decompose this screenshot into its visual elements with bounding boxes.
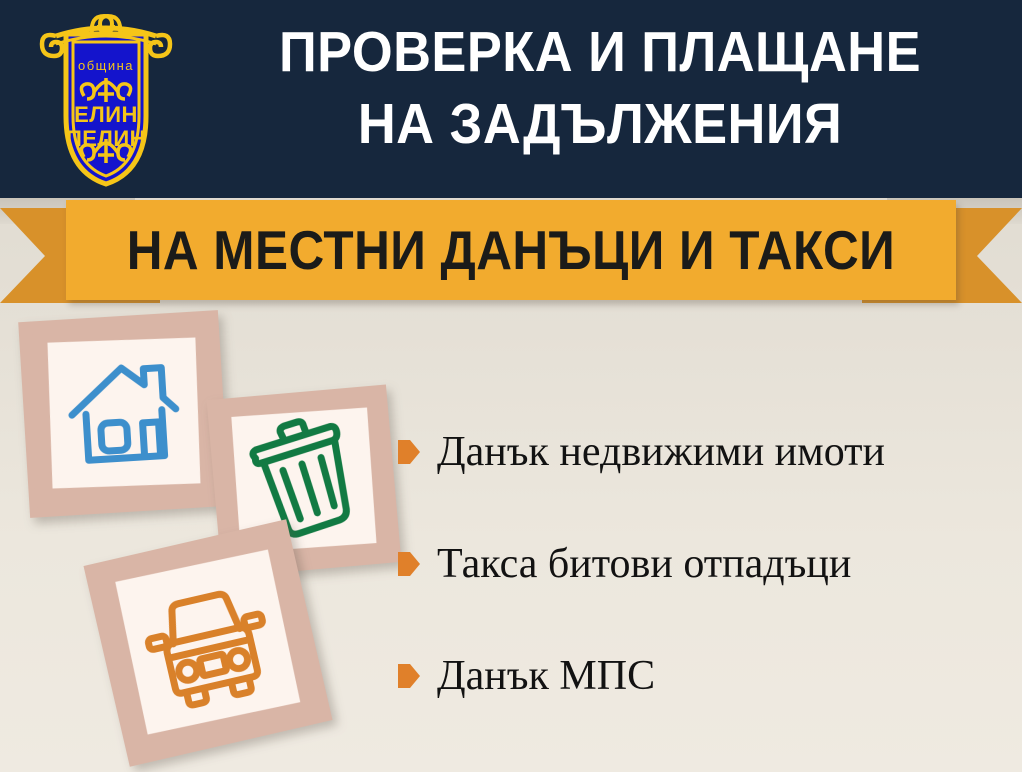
page-title: ПРОВЕРКА И ПЛАЩАНЕ НА ЗАДЪЛЖЕНИЯ bbox=[190, 16, 1010, 160]
list-item[interactable]: Данък МПС bbox=[398, 648, 1018, 704]
ribbon-label: НА МЕСТНИ ДАНЪЦИ И ТАКСИ bbox=[127, 221, 896, 279]
crest-line-3: ПЕЛИН bbox=[66, 126, 146, 151]
list-item[interactable]: Данък недвижими имоти bbox=[398, 424, 1018, 480]
arrow-bullet-icon bbox=[398, 440, 420, 464]
stamp-real-estate bbox=[18, 310, 230, 518]
list-item-label: Данък недвижими имоти bbox=[437, 428, 885, 476]
arrow-bullet-icon bbox=[398, 552, 420, 576]
arrow-bullet-icon bbox=[398, 664, 420, 688]
elin-pelin-coat-of-arms-icon: община ЕЛИН ПЕЛИН bbox=[26, 6, 186, 191]
crest-line-1: община bbox=[78, 58, 134, 73]
list-item-label: Такса битови отпадъци bbox=[437, 540, 851, 588]
subtitle-ribbon: НА МЕСТНИ ДАНЪЦИ И ТАКСИ bbox=[0, 198, 1022, 316]
list-item[interactable]: Такса битови отпадъци bbox=[398, 536, 1018, 592]
title-line-1: ПРОВЕРКА И ПЛАЩАНЕ bbox=[223, 16, 977, 88]
ribbon-body: НА МЕСТНИ ДАНЪЦИ И ТАКСИ bbox=[66, 200, 956, 300]
header-banner: община ЕЛИН ПЕЛИН ПРОВЕРКА И ПЛАЩАНЕ НА … bbox=[0, 0, 1022, 198]
title-line-2: НА ЗАДЪЛЖЕНИЯ bbox=[223, 88, 977, 160]
poster-canvas: община ЕЛИН ПЕЛИН ПРОВЕРКА И ПЛАЩАНЕ НА … bbox=[0, 0, 1022, 772]
list-item-label: Данък МПС bbox=[437, 652, 655, 700]
tax-type-list: Данък недвижими имоти Такса битови отпад… bbox=[398, 424, 1018, 704]
crest-line-2: ЕЛИН bbox=[74, 102, 138, 127]
